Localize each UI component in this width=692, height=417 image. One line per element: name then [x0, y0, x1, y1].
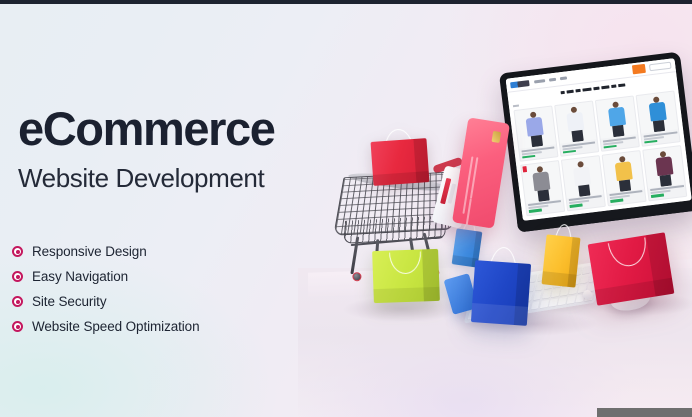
cart-wheel	[352, 272, 361, 281]
nav-link[interactable]	[534, 79, 545, 83]
product-image	[562, 156, 603, 198]
product-image	[521, 161, 562, 203]
shopping-bag-blue	[471, 260, 531, 326]
page-title: eCommerce	[18, 104, 348, 153]
shopping-bag-crimson	[588, 232, 675, 305]
product-card[interactable]	[520, 160, 565, 216]
product-image	[515, 107, 556, 149]
list-item: Site Security	[12, 289, 200, 314]
bullet-dot-icon	[12, 246, 23, 257]
product-card[interactable]	[595, 95, 640, 151]
bullet-dot-icon	[12, 321, 23, 332]
feature-label: Website Speed Optimization	[32, 319, 200, 334]
product-card[interactable]	[602, 150, 647, 206]
card-number-lines	[462, 156, 480, 215]
product-card[interactable]	[554, 100, 599, 156]
nav-link[interactable]	[549, 78, 556, 82]
shopping-bag-yellow	[541, 234, 580, 287]
search-input[interactable]	[649, 62, 672, 72]
card-chip-icon	[492, 131, 502, 143]
bullet-dot-icon	[12, 296, 23, 307]
product-card[interactable]	[643, 145, 688, 201]
page-subtitle: Website Development	[18, 163, 348, 194]
headline-block: eCommerce Website Development	[18, 104, 348, 195]
horizontal-scrollbar-track[interactable]	[0, 408, 692, 417]
feature-label: Responsive Design	[32, 244, 147, 259]
mouse-dot	[583, 290, 592, 299]
browser-top-bar	[0, 0, 692, 4]
product-image	[644, 146, 685, 188]
store-logo-icon	[510, 80, 530, 88]
ecommerce-banner: eCommerce Website Development Responsive…	[0, 0, 692, 417]
cart-button[interactable]	[632, 64, 646, 75]
shopping-bag-green	[372, 249, 440, 303]
credit-card-pink	[452, 117, 510, 228]
shopping-bag-red	[371, 138, 430, 186]
feature-label: Site Security	[32, 294, 106, 309]
list-item: Website Speed Optimization	[12, 314, 200, 339]
ecommerce-3d-illustration	[318, 0, 692, 417]
list-item: Responsive Design	[12, 239, 200, 264]
nav-link[interactable]	[560, 76, 567, 80]
product-grid	[509, 88, 691, 220]
product-image	[637, 92, 678, 134]
feature-label: Easy Navigation	[32, 269, 128, 284]
product-card[interactable]	[636, 90, 681, 146]
cart-leg	[350, 236, 359, 274]
product-image	[603, 151, 644, 193]
product-image	[555, 102, 596, 144]
sale-tag	[522, 166, 527, 172]
feature-list: Responsive Design Easy Navigation Site S…	[12, 239, 200, 339]
bullet-dot-icon	[12, 271, 23, 282]
list-item: Easy Navigation	[12, 264, 200, 289]
product-image	[596, 97, 637, 139]
horizontal-scrollbar-thumb[interactable]	[597, 408, 692, 417]
product-card[interactable]	[561, 155, 606, 211]
desktop-monitor	[499, 52, 692, 233]
monitor-screen	[506, 58, 692, 221]
cart-cross-bar	[351, 236, 443, 246]
product-card[interactable]	[513, 105, 558, 161]
storefront-page	[506, 58, 692, 221]
